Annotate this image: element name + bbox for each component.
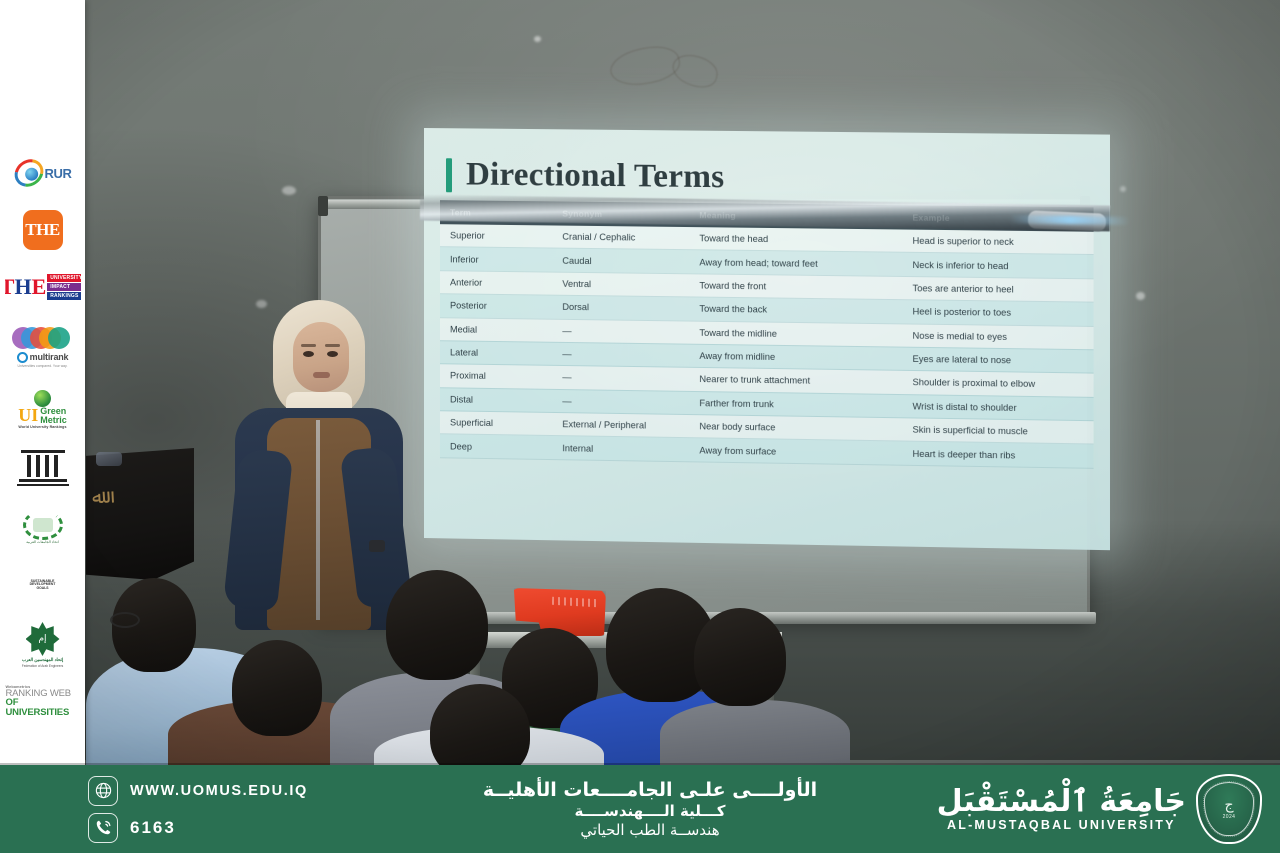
cell-term: Inferior xyxy=(440,247,556,272)
cell-synonym: — xyxy=(556,342,693,367)
badge-multirank: multirank Universities compared. Your wa… xyxy=(5,319,81,375)
impact-line-2: IMPACT xyxy=(47,283,80,291)
student-head xyxy=(694,608,786,706)
greenmetric-ui: UI xyxy=(18,407,38,423)
rur-label: RUR xyxy=(45,166,72,181)
cell-example: Toes are anterior to heel xyxy=(906,276,1093,302)
phone-row[interactable]: 6163 xyxy=(88,813,420,843)
phone-signal-icon xyxy=(88,813,118,843)
cell-synonym: Caudal xyxy=(556,248,693,273)
banner-top-divider xyxy=(0,763,1280,765)
arab-engineers-arabic: إتحاد المهندسين العرب xyxy=(22,657,63,663)
lectern xyxy=(86,448,194,580)
lectern-calligraphy: ﷲ xyxy=(92,486,104,508)
cell-meaning: Farther from trunk xyxy=(693,391,906,418)
screenshot-root: Directional Terms Term Synonym Meaning E… xyxy=(0,0,1280,853)
rail-clip xyxy=(318,196,328,216)
university-name-block: جَامِعَةُ ٱلْمُسْتَقْبَل AL-MUSTAQBAL UN… xyxy=(937,786,1186,833)
cell-term: Proximal xyxy=(440,364,556,389)
lecturer-face xyxy=(293,322,349,392)
multirank-dot-icon xyxy=(17,352,28,363)
arab-engineers-english: Federation of Arab Engineers xyxy=(22,664,63,668)
banner-university-logo: جَامِعَةُ ٱلْمُسْتَقْبَل AL-MUSTAQBAL UN… xyxy=(880,774,1280,844)
university-name-arabic: جَامِعَةُ ٱلْمُسْتَقْبَل xyxy=(937,786,1186,818)
directional-terms-table: Term Synonym Meaning Example SuperiorCra… xyxy=(440,200,1094,468)
lecturer-wristwatch xyxy=(369,540,385,552)
column-header-term: Term xyxy=(440,200,556,225)
webometrics-line2: OF UNIVERSITIES xyxy=(6,698,80,717)
student-shoulders xyxy=(660,700,850,770)
cell-meaning: Away from head; toward feet xyxy=(693,250,906,276)
projected-slide: Directional Terms Term Synonym Meaning E… xyxy=(424,128,1110,550)
badge-rur: RUR xyxy=(5,148,81,198)
star-calligraphy: إم xyxy=(38,634,46,644)
emblem-outer-ring xyxy=(1203,781,1255,837)
student-eyeglasses xyxy=(110,612,140,628)
temple-plinth xyxy=(17,484,69,486)
letter-e: E xyxy=(32,277,47,297)
badge-columns xyxy=(5,443,81,493)
cell-synonym: Internal xyxy=(556,436,693,462)
column-header-meaning: Meaning xyxy=(693,203,906,230)
arab-engineers-logo: إم إتحاد المهندسين العرب Federation of A… xyxy=(22,622,63,668)
lecturer-brow xyxy=(301,344,316,347)
cell-example: Neck is inferior to head xyxy=(906,253,1093,279)
cell-example: Shoulder is proximal to elbow xyxy=(906,371,1093,397)
cell-term: Superior xyxy=(440,224,556,248)
badge-sdg: SUSTAINABLE DEVELOPMENT GOALS xyxy=(5,561,81,609)
cell-meaning: Toward the back xyxy=(693,297,906,323)
lecturer-zipper xyxy=(316,420,320,620)
rur-logo: RUR xyxy=(14,160,72,186)
website-label: WWW.UOMUS.EDU.IQ xyxy=(130,783,308,799)
cell-example: Skin is superficial to muscle xyxy=(906,418,1093,445)
university-name-english: AL-MUSTAQBAL UNIVERSITY xyxy=(947,818,1176,832)
cell-term: Medial xyxy=(440,317,556,342)
temple-base xyxy=(19,479,67,482)
multirank-circles xyxy=(12,327,74,351)
cell-term: Posterior xyxy=(440,294,556,319)
wall-mark xyxy=(1136,292,1145,300)
the-impact-letters: T H E xyxy=(5,277,47,297)
green-globe-icon xyxy=(34,390,51,407)
arab-universities-label: اتحاد الجامعات العربية xyxy=(26,540,58,544)
cell-term: Superficial xyxy=(440,411,556,436)
cell-synonym: Ventral xyxy=(556,272,693,297)
banner-arabic-line-3: هندســة الطب الحياتي xyxy=(580,821,719,839)
globe-www-icon xyxy=(88,776,118,806)
temple-column xyxy=(54,455,58,477)
cell-meaning: Toward the midline xyxy=(693,321,906,347)
circle-teal xyxy=(48,327,70,349)
sdg-wheel-icon: SUSTAINABLE DEVELOPMENT GOALS xyxy=(23,565,63,605)
cell-synonym: — xyxy=(556,389,693,415)
cell-term: Deep xyxy=(440,434,556,459)
badge-greenmetric: UI Green Metric World University Ranking… xyxy=(5,382,81,436)
temple-column xyxy=(45,455,49,477)
lecturer-mouth xyxy=(313,372,330,378)
slide-title-row: Directional Terms xyxy=(446,156,724,196)
columns-emblem-icon xyxy=(17,450,69,486)
greenmetric-wordmark: UI Green Metric xyxy=(18,407,67,425)
letter-h: H xyxy=(14,277,31,297)
cell-example: Heart is deeper than ribs xyxy=(906,441,1093,468)
impact-line-3: RANKINGS xyxy=(47,292,80,300)
university-shield-emblem: ج 2024 xyxy=(1196,774,1262,844)
temple-column xyxy=(36,455,40,477)
arab-universities-logo: اتحاد الجامعات العربية xyxy=(23,510,63,544)
lecturer-eye xyxy=(303,351,314,357)
lecturer-brow xyxy=(325,344,340,347)
cell-term: Anterior xyxy=(440,270,556,295)
sdg-label: SUSTAINABLE DEVELOPMENT GOALS xyxy=(30,572,56,598)
temple-column xyxy=(27,455,31,477)
cell-meaning: Toward the front xyxy=(693,274,906,300)
cell-synonym: External / Peripheral xyxy=(556,413,693,439)
slide-title: Directional Terms xyxy=(466,156,724,196)
phone-label: 6163 xyxy=(130,818,176,838)
website-row[interactable]: WWW.UOMUS.EDU.IQ xyxy=(88,776,420,806)
student-head xyxy=(232,640,322,736)
temple-architrave xyxy=(21,450,65,453)
cell-meaning: Away from midline xyxy=(693,344,906,371)
banner-arabic-line-1: الأولــــى علـى الجامــــعات الأهليــة xyxy=(483,779,817,801)
globe-icon xyxy=(25,168,38,181)
multirank-tagline: Universities compared. Your way. xyxy=(18,364,68,368)
greenmetric-line2: Metric xyxy=(40,416,67,425)
eight-point-star-icon: إم xyxy=(26,622,60,656)
table-body: SuperiorCranial / CephalicToward the hea… xyxy=(440,224,1094,468)
cell-synonym: — xyxy=(556,319,693,344)
the-impact-logo: T H E UNIVERSITY IMPACT RANKINGS xyxy=(5,274,81,300)
greenmetric-logo: UI Green Metric World University Ranking… xyxy=(18,390,67,429)
banner-arabic-block: الأولــــى علـى الجامــــعات الأهليــة ك… xyxy=(420,779,880,839)
badge-the: THE xyxy=(5,205,81,255)
column-header-synonym: Synonym xyxy=(556,201,693,227)
cell-meaning: Nearer to trunk attachment xyxy=(693,368,906,395)
temple-columns xyxy=(27,455,58,477)
cell-synonym: — xyxy=(556,366,693,391)
wreath-icon xyxy=(23,510,63,540)
cell-meaning: Near body surface xyxy=(693,415,906,442)
cell-term: Lateral xyxy=(440,341,556,366)
wreath-center-emblem xyxy=(33,518,53,532)
badge-arab-engineers: إم إتحاد المهندسين العرب Federation of A… xyxy=(5,616,81,674)
impact-line-1: UNIVERSITY xyxy=(47,274,80,282)
wall-mark xyxy=(282,186,296,195)
banner-contact-block: WWW.UOMUS.EDU.IQ 6163 xyxy=(0,776,420,843)
wall-mark xyxy=(1120,186,1126,192)
title-accent-bar xyxy=(446,158,452,192)
cell-example: Heel is posterior to toes xyxy=(906,300,1093,326)
cell-example: Wrist is distal to shoulder xyxy=(906,394,1093,420)
cell-synonym: Dorsal xyxy=(556,295,693,320)
webometrics-logo: Webometrics RANKING WEB OF UNIVERSITIES xyxy=(6,685,80,718)
badge-arab-universities: اتحاد الجامعات العربية xyxy=(5,500,81,554)
classroom-photo: Directional Terms Term Synonym Meaning E… xyxy=(0,0,1280,853)
lecturer-eye xyxy=(327,351,338,357)
the-label: THE xyxy=(25,220,59,240)
the-impact-bars: UNIVERSITY IMPACT RANKINGS xyxy=(47,274,80,300)
wall-mark xyxy=(534,36,541,42)
cell-meaning: Away from surface xyxy=(693,438,906,465)
lectern-plaque xyxy=(96,452,122,466)
cell-synonym: Cranial / Cephalic xyxy=(556,226,693,251)
cell-example: Head is superior to neck xyxy=(906,230,1093,255)
student-head xyxy=(386,570,488,680)
cell-example: Nose is medial to eyes xyxy=(906,323,1093,349)
rankings-sidebar: RUR THE T H E UNIVERSITY IMPACT RANKINGS xyxy=(0,0,85,765)
banner-arabic-line-2: كـــلية الــــهندســــة xyxy=(575,802,726,820)
badge-the-impact: T H E UNIVERSITY IMPACT RANKINGS xyxy=(5,262,81,312)
cell-term: Distal xyxy=(440,387,556,412)
cell-example: Eyes are lateral to nose xyxy=(906,347,1093,373)
lecturer xyxy=(213,300,418,630)
badge-webometrics: Webometrics RANKING WEB OF UNIVERSITIES xyxy=(5,681,81,721)
letter-t: T xyxy=(5,277,15,297)
multirank-wordmark: multirank xyxy=(17,352,69,363)
multirank-label: multirank xyxy=(30,352,69,362)
multirank-logo: multirank Universities compared. Your wa… xyxy=(12,327,74,368)
greenmetric-tagline: World University Rankings xyxy=(18,425,66,429)
the-logo: THE xyxy=(23,210,63,250)
cell-meaning: Toward the head xyxy=(693,227,906,253)
rur-swoosh-icon xyxy=(9,154,48,193)
university-banner: WWW.UOMUS.EDU.IQ 6163 الأولــــى علـى ال… xyxy=(0,765,1280,853)
